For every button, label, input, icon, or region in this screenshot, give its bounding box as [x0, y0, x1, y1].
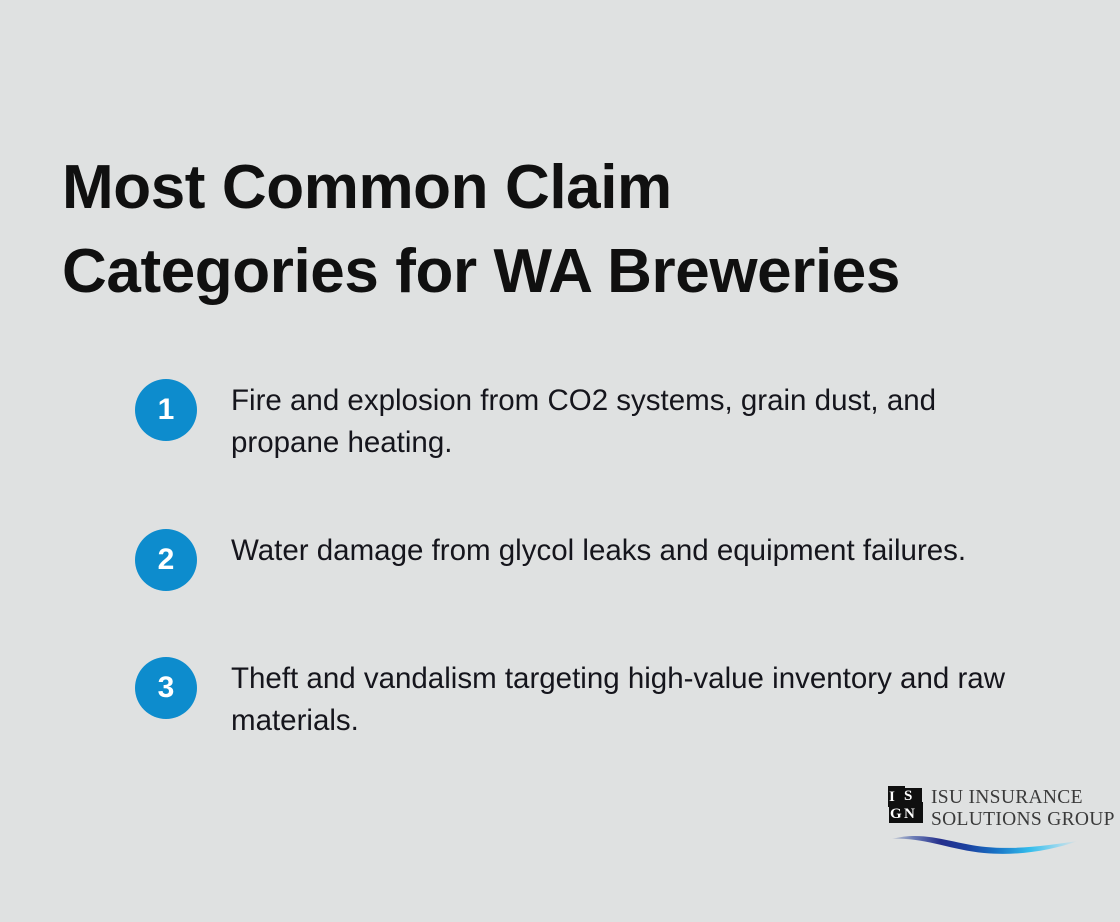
logo-swoosh-icon	[890, 830, 1080, 856]
monogram-letter-i: I	[889, 790, 894, 805]
claim-categories-list: 1 Fire and explosion from CO2 systems, g…	[135, 378, 1035, 742]
monogram-letter-g: G	[890, 807, 901, 822]
list-item-number-badge: 3	[135, 657, 197, 719]
list-item-text: Water damage from glycol leaks and equip…	[231, 528, 966, 572]
isu-monogram-icon: I S G N	[888, 786, 924, 823]
list-item-text: Theft and vandalism targeting high-value…	[231, 656, 1031, 742]
page-title: Most Common Claim Categories for WA Brew…	[62, 146, 1022, 315]
logo-wordmark: ISU INSURANCE SOLUTIONS GROUP	[931, 786, 1115, 831]
isu-insurance-logo: I S G N ISU INSURANCE SOLUTIONS GROUP	[888, 786, 1078, 866]
logo-line-1: ISU INSURANCE	[931, 787, 1115, 809]
list-item-number-badge: 1	[135, 379, 197, 441]
list-item-number-badge: 2	[135, 529, 197, 591]
logo-row: I S G N ISU INSURANCE SOLUTIONS GROUP	[888, 786, 1078, 831]
infographic-slide: Most Common Claim Categories for WA Brew…	[0, 0, 1120, 922]
list-item: 1 Fire and explosion from CO2 systems, g…	[135, 378, 1035, 464]
list-item: 3 Theft and vandalism targeting high-val…	[135, 656, 1035, 742]
logo-line-2: SOLUTIONS GROUP	[931, 809, 1115, 831]
list-item: 2 Water damage from glycol leaks and equ…	[135, 528, 1035, 592]
monogram-letter-s: S	[904, 789, 911, 804]
list-item-text: Fire and explosion from CO2 systems, gra…	[231, 378, 1031, 464]
monogram-letter-n: N	[904, 807, 914, 822]
